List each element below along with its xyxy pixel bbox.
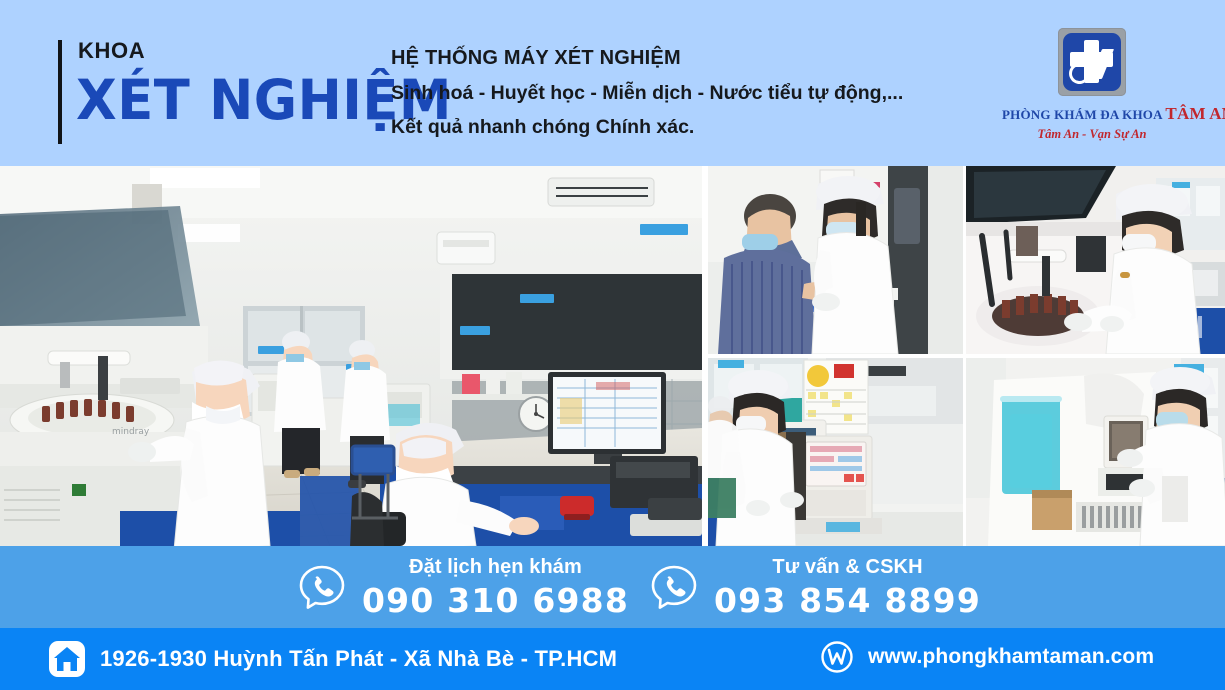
svg-text:mindray: mindray [112,427,150,437]
services-line: Sinh hoá - Huyết học - Miễn dịch - Nước … [391,81,951,105]
phone-bubble-icon [298,563,346,611]
hematology-analyzer-photo [708,358,963,546]
address-text: 1926-1930 Huỳnh Tấn Phát - Xã Nhà Bè - T… [100,646,617,672]
w-globe-icon [820,640,854,674]
appointment-phone[interactable]: 090 310 6988 [362,584,629,617]
lab-overview-photo: mindray [0,166,702,546]
appointment-label: Đặt lịch hẹn khám [362,557,629,577]
medical-cross-icon [1058,28,1126,96]
photo-gallery: mindray [0,166,1225,546]
contact-bar: Đặt lịch hẹn khám 090 310 6988 Tư vấn & … [0,546,1225,628]
support-label: Tư vấn & CSKH [714,557,981,577]
accent-bar [58,40,62,144]
header-description-block: HỆ THỐNG MÁY XÉT NGHIỆM Sinh hoá - Huyết… [391,46,951,140]
biochemistry-analyzer-photo [966,166,1225,354]
footer-bar: 1926-1930 Huỳnh Tấn Phát - Xã Nhà Bè - T… [0,628,1225,690]
appointment-contact[interactable]: Đặt lịch hẹn khám 090 310 6988 [298,557,629,617]
system-headline: HỆ THỐNG MÁY XÉT NGHIỆM [391,46,951,71]
header-section: KHOA XÉT NGHIỆM HỆ THỐNG MÁY XÉT NGHIỆM … [0,0,1225,166]
website-block[interactable]: www.phongkhamtaman.com [820,640,1154,674]
clinic-brand: TÂM AN [1165,104,1225,123]
clinic-logo: PHÒNG KHÁM ĐA KHOA TÂM AN Tâm An - Vạn S… [1002,28,1182,142]
support-contact[interactable]: Tư vấn & CSKH 093 854 8899 [650,557,981,617]
clinic-slogan: Tâm An - Vạn Sự An [1002,127,1182,142]
blood-draw-photo [708,166,963,354]
support-phone[interactable]: 093 854 8899 [714,584,981,617]
home-icon [48,640,86,678]
clinic-banner: KHOA XÉT NGHIỆM HỆ THỐNG MÁY XÉT NGHIỆM … [0,0,1225,690]
clinic-name: PHÒNG KHÁM ĐA KHOA TÂM AN [1002,104,1182,124]
results-line: Kết quả nhanh chóng Chính xác. [391,115,951,139]
clinic-name-prefix: PHÒNG KHÁM ĐA KHOA [1002,107,1165,122]
phone-bubble-icon [650,563,698,611]
immunoassay-analyzer-photo [966,358,1225,546]
website-text[interactable]: www.phongkhamtaman.com [868,645,1154,669]
address-block: 1926-1930 Huỳnh Tấn Phát - Xã Nhà Bè - T… [48,640,617,678]
